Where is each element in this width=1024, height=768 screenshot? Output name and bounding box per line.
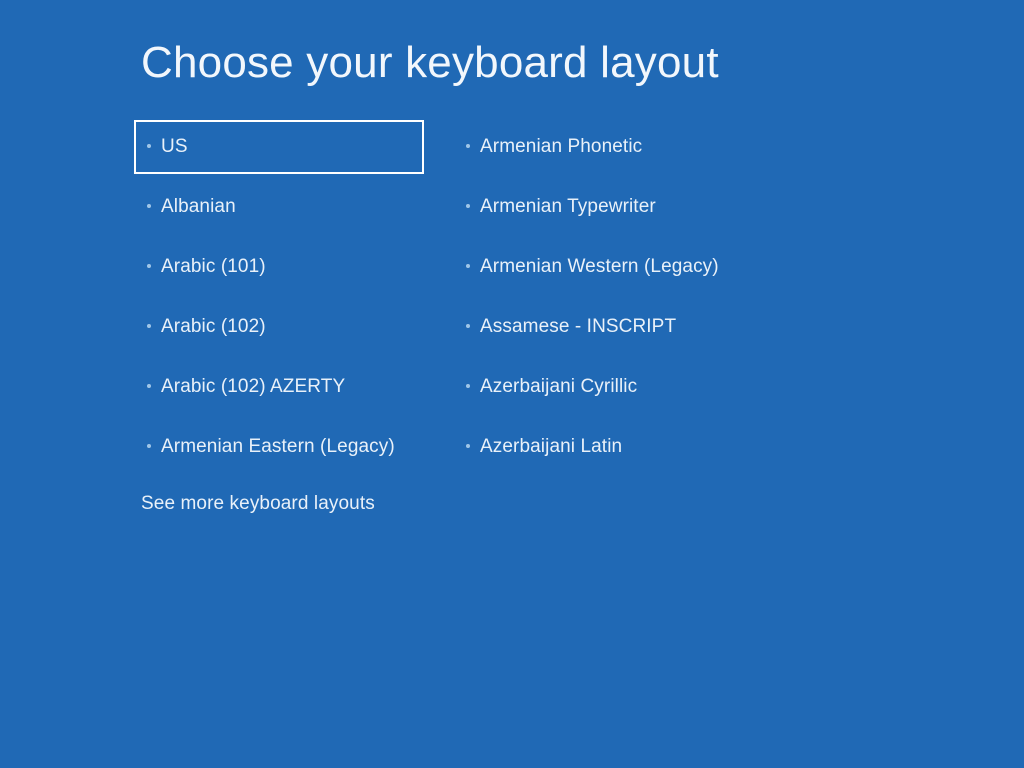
keyboard-layout-option-label: Arabic (101) xyxy=(161,256,266,278)
keyboard-layout-option-label: Assamese - INSCRIPT xyxy=(480,316,676,338)
keyboard-layout-option-label: Armenian Eastern (Legacy) xyxy=(161,436,395,458)
bullet-dot-icon xyxy=(147,204,151,208)
keyboard-layout-option[interactable]: Azerbaijani Latin xyxy=(463,420,783,474)
keyboard-layout-option[interactable]: Assamese - INSCRIPT xyxy=(463,300,783,354)
keyboard-layout-option[interactable]: Arabic (102) AZERTY xyxy=(134,360,424,414)
keyboard-layout-option[interactable]: Armenian Eastern (Legacy) xyxy=(134,420,424,474)
bullet-dot-icon xyxy=(466,144,470,148)
bullet-dot-icon xyxy=(466,444,470,448)
keyboard-layout-option-label: Arabic (102) xyxy=(161,316,266,338)
keyboard-layout-option-label: Arabic (102) AZERTY xyxy=(161,376,345,398)
bullet-dot-icon xyxy=(466,264,470,268)
bullet-dot-icon xyxy=(147,444,151,448)
see-more-keyboard-layouts-link[interactable]: See more keyboard layouts xyxy=(141,492,375,516)
recovery-keyboard-layout-screen: Choose your keyboard layout USAlbanianAr… xyxy=(0,0,1024,768)
keyboard-layout-option[interactable]: US xyxy=(134,120,424,174)
bullet-dot-icon xyxy=(147,264,151,268)
bullet-dot-icon xyxy=(147,324,151,328)
bullet-dot-icon xyxy=(147,384,151,388)
bullet-dot-icon xyxy=(466,204,470,208)
keyboard-layout-option-label: Armenian Phonetic xyxy=(480,136,642,158)
keyboard-layout-option[interactable]: Armenian Typewriter xyxy=(463,180,783,234)
bullet-dot-icon xyxy=(466,384,470,388)
keyboard-layout-option-label: US xyxy=(161,136,188,158)
bullet-dot-icon xyxy=(466,324,470,328)
keyboard-layout-option[interactable]: Albanian xyxy=(134,180,424,234)
keyboard-layout-option-label: Armenian Western (Legacy) xyxy=(480,256,719,278)
keyboard-layout-list: USAlbanianArabic (101)Arabic (102)Arabic… xyxy=(0,0,1024,768)
keyboard-layout-option[interactable]: Azerbaijani Cyrillic xyxy=(463,360,783,414)
keyboard-layout-option-label: Armenian Typewriter xyxy=(480,196,656,218)
keyboard-layout-option-label: Azerbaijani Latin xyxy=(480,436,622,458)
keyboard-layout-option[interactable]: Armenian Phonetic xyxy=(463,120,783,174)
bullet-dot-icon xyxy=(147,144,151,148)
keyboard-layout-option[interactable]: Arabic (101) xyxy=(134,240,424,294)
keyboard-layout-option[interactable]: Arabic (102) xyxy=(134,300,424,354)
keyboard-layout-option-label: Albanian xyxy=(161,196,236,218)
keyboard-layout-option-label: Azerbaijani Cyrillic xyxy=(480,376,637,398)
keyboard-layout-option[interactable]: Armenian Western (Legacy) xyxy=(463,240,783,294)
